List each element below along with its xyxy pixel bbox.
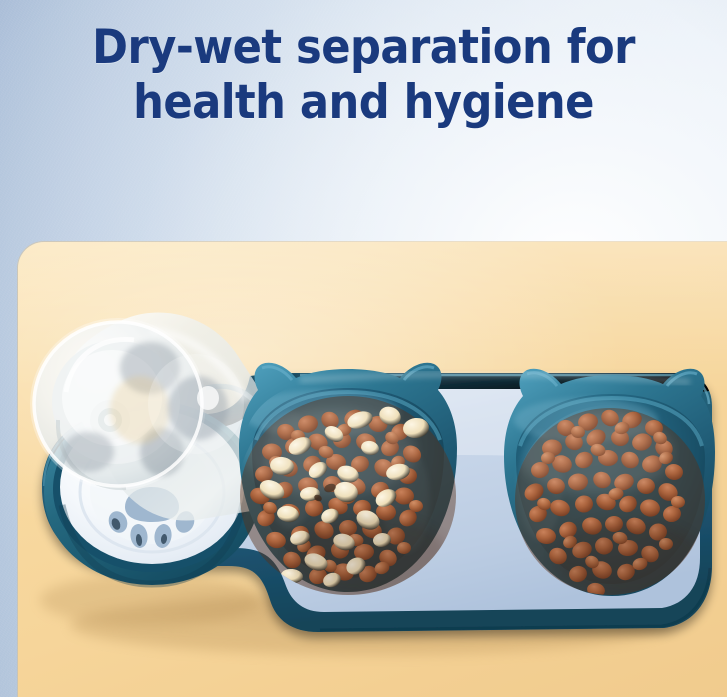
- bowl-left: [239, 363, 457, 596]
- bowl-left-food: [240, 396, 456, 596]
- product-image-scene: Dry-wet separation for health and hygien…: [0, 0, 727, 697]
- product-assembly: [0, 0, 727, 697]
